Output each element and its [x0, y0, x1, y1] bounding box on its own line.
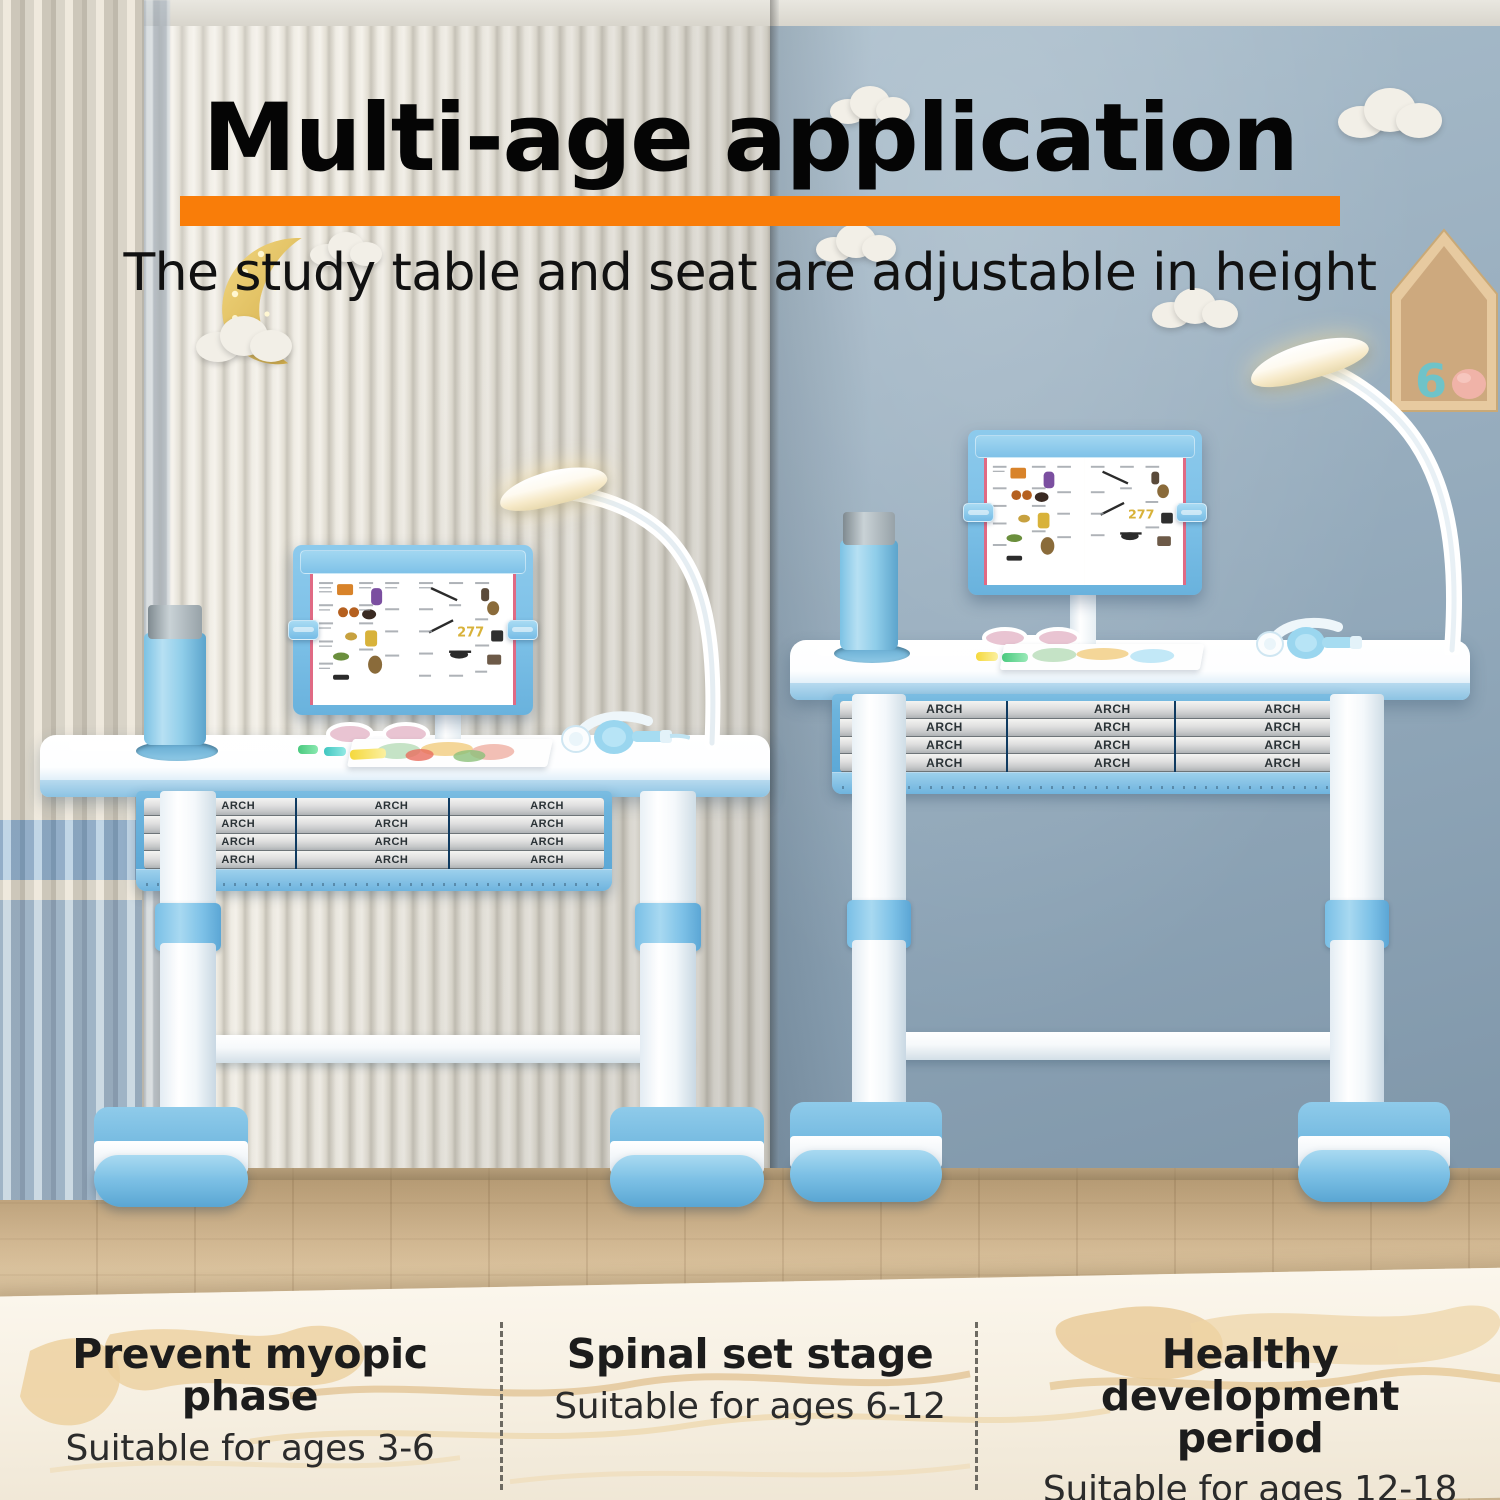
page-title: Multi-age application — [0, 92, 1500, 186]
desk-drawer-right[interactable]: ARCH ARCH ARCH ARCH ARCH ARCH ARCH ARCH … — [832, 694, 1352, 794]
cloud-decal-2 — [196, 316, 292, 362]
desk-foot-left-2 — [610, 1107, 764, 1207]
book-spine-label: ARCH — [1264, 738, 1301, 752]
marker-yellow — [976, 652, 998, 661]
caption-card-1: Prevent myopic phase Suitable for ages 3… — [0, 1330, 500, 1490]
caption-subtitle: Suitable for ages 3-6 — [66, 1428, 435, 1469]
book-column: ARCH ARCH ARCH ARCH — [297, 798, 450, 869]
book-spine-label: ARCH — [375, 818, 409, 830]
book-stand-right: 277 — [968, 430, 1202, 595]
book-spine-label: ARCH — [221, 800, 255, 812]
page-clip-right[interactable] — [1176, 503, 1206, 523]
headline-underline-bar — [180, 196, 1340, 226]
caption-title: Spinal set stage — [567, 1334, 934, 1376]
desk-leg-left-1 — [160, 791, 216, 1131]
book-spine-label: ARCH — [375, 836, 409, 848]
water-bottle-left — [144, 605, 206, 745]
book-spine-label: ARCH — [1264, 756, 1301, 770]
caption-card-2: Spinal set stage Suitable for ages 6-12 — [500, 1330, 1000, 1490]
desk-left: 277 — [40, 735, 770, 1255]
desk-leg-right-1 — [852, 694, 906, 1130]
marker-yellow — [350, 748, 386, 760]
caption-row: Prevent myopic phase Suitable for ages 3… — [0, 1330, 1500, 1490]
book-spine-label: ARCH — [375, 800, 409, 812]
book-page-right: 277 — [1085, 458, 1186, 585]
book-column: ARCH ARCH ARCH ARCH — [1008, 701, 1176, 772]
led-desk-lamp-right[interactable] — [1238, 345, 1488, 655]
book-spine-label: ARCH — [1264, 720, 1301, 734]
book-page-left — [984, 458, 1085, 585]
book-spine-label: ARCH — [1094, 738, 1131, 752]
desk-leg-right-2 — [1330, 694, 1384, 1130]
desk-crossbar-right — [860, 1032, 1380, 1060]
book-spine-label: ARCH — [926, 738, 963, 752]
ceiling — [0, 0, 1500, 26]
marker-green — [1002, 653, 1028, 662]
book-spine-label: ARCH — [221, 836, 255, 848]
book-spine-label: ARCH — [530, 818, 564, 830]
caption-card-3: Healthy development period Suitable for … — [1000, 1330, 1500, 1490]
caption-title: Healthy development period — [1035, 1334, 1465, 1459]
book-spine-label: ARCH — [530, 800, 564, 812]
caption-subtitle: Suitable for ages 6-12 — [554, 1386, 946, 1427]
page-clip-left[interactable] — [288, 620, 319, 640]
book-spine-label: ARCH — [926, 702, 963, 716]
book-spine-label: ARCH — [530, 854, 564, 866]
marker-teal — [324, 747, 346, 756]
book-spine-label: ARCH — [375, 854, 409, 866]
book-spine-label: ARCH — [926, 756, 963, 770]
book-spine-label: ARCH — [1094, 756, 1131, 770]
desk-crossbar-left — [170, 1035, 690, 1063]
notebook-right — [1000, 644, 1205, 670]
book-stand-top-flap — [975, 435, 1195, 458]
book-spine-label: ARCH — [530, 836, 564, 848]
drawer-front-lip-right[interactable] — [832, 772, 1352, 794]
book-spine-label: ARCH — [1264, 702, 1301, 716]
desk-right: 277 — [790, 640, 1470, 1255]
caption-subtitle: Suitable for ages 12-18 — [1043, 1469, 1457, 1500]
book-spine-label: ARCH — [221, 854, 255, 866]
book-page-left — [310, 574, 413, 705]
headphones-left — [556, 709, 690, 755]
book-spine-label: ARCH — [1094, 702, 1131, 716]
page-number: 277 — [1128, 507, 1154, 522]
drawer-book-well-right: ARCH ARCH ARCH ARCH ARCH ARCH ARCH ARCH … — [840, 701, 1344, 772]
caption-title: Prevent myopic phase — [0, 1334, 500, 1418]
desk-foot-right-2 — [1298, 1102, 1450, 1202]
water-bottle-right — [840, 512, 898, 650]
page-clip-left[interactable] — [963, 503, 993, 523]
book-column: ARCH ARCH ARCH ARCH — [450, 798, 604, 869]
desk-leg-left-2 — [640, 791, 696, 1131]
page-subtitle: The study table and seat are adjustable … — [0, 243, 1500, 303]
book-spine-label: ARCH — [221, 818, 255, 830]
product-marketing-image: 6 — [0, 0, 1500, 1500]
marker-green — [298, 745, 318, 754]
desk-foot-left-1 — [94, 1107, 248, 1207]
headphones-right — [1250, 616, 1378, 660]
book-column: ARCH ARCH ARCH ARCH — [1176, 701, 1344, 772]
desk-foot-right-1 — [790, 1102, 942, 1202]
book-spine-label: ARCH — [1094, 720, 1131, 734]
book-spine-label: ARCH — [926, 720, 963, 734]
